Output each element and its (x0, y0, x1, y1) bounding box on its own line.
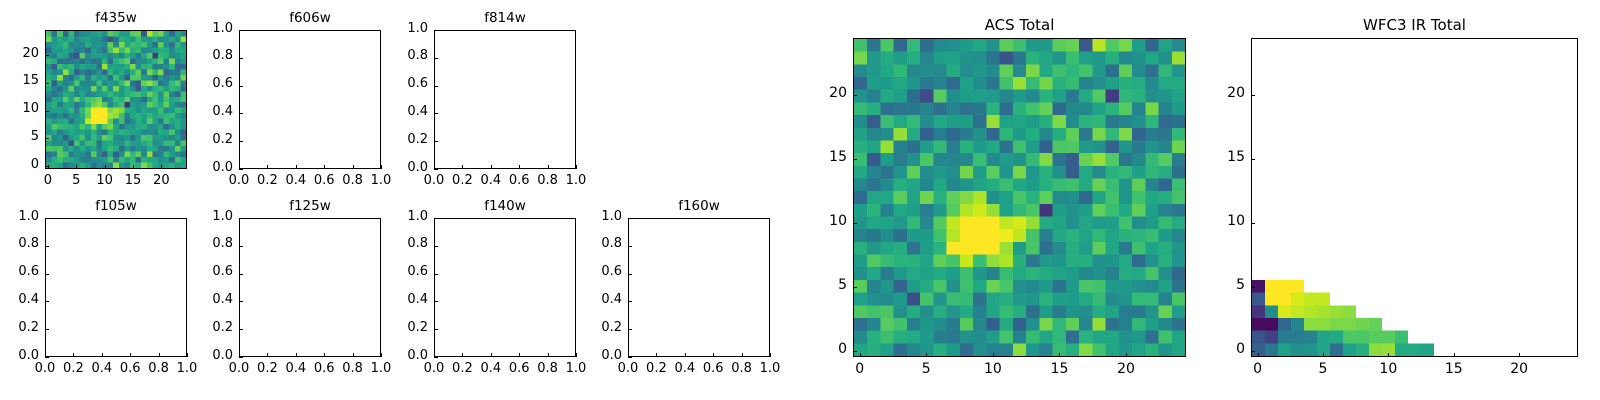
yticklabel-f105w-2: 0.4 (0, 292, 39, 307)
panel-title-f606w: f606w (239, 10, 381, 26)
xticklabel-f814w-1: 0.2 (432, 173, 492, 188)
xticklabel-f140w-1: 0.2 (432, 361, 492, 376)
ytick-f814w-0 (434, 169, 438, 170)
xticklabel-acs-total-4: 20 (1096, 361, 1156, 377)
xticklabel-f105w-2: 0.4 (72, 361, 132, 376)
yticklabel-f435w-2: 10 (0, 101, 39, 116)
xticklabel-f606w-1: 0.2 (237, 173, 297, 188)
xticklabel-acs-total-0: 0 (830, 361, 890, 377)
xticklabel-f606w-4: 0.8 (323, 173, 383, 188)
xticklabel-f125w-1: 0.2 (237, 361, 297, 376)
plot-area-f435w[interactable] (45, 30, 187, 169)
xticklabel-f105w-1: 0.2 (43, 361, 103, 376)
xtick-f140w-5 (576, 353, 577, 357)
xticklabel-f160w-2: 0.4 (655, 361, 715, 376)
xticklabel-wfc3-ir-total-2: 10 (1358, 361, 1418, 377)
ytick-f105w-0 (45, 357, 49, 358)
xticklabel-f606w-0: 0.0 (209, 173, 269, 188)
xticklabel-f140w-0: 0.0 (404, 361, 464, 376)
xticklabel-f125w-4: 0.8 (323, 361, 383, 376)
yticklabel-wfc3-ir-total-2: 10 (1185, 213, 1245, 229)
plot-area-f814w[interactable] (434, 30, 576, 169)
xtick-f105w-5 (187, 353, 188, 357)
heatmap-wfc3-ir-total (1252, 39, 1577, 356)
xticklabel-f814w-0: 0.0 (404, 173, 464, 188)
panel-title-f105w: f105w (45, 198, 187, 214)
xticklabel-f435w-3: 15 (103, 173, 163, 188)
panel-title-acs-total: ACS Total (853, 16, 1186, 34)
yticklabel-wfc3-ir-total-3: 15 (1185, 149, 1245, 165)
heatmap-acs-total (854, 39, 1185, 356)
xticklabel-f140w-3: 0.6 (489, 361, 549, 376)
xticklabel-f814w-5: 1.0 (546, 173, 606, 188)
panel-title-f140w: f140w (434, 198, 576, 214)
xticklabel-f160w-4: 0.8 (712, 361, 772, 376)
xticklabel-wfc3-ir-total-4: 20 (1489, 361, 1549, 377)
xtick-f606w-5 (381, 165, 382, 169)
xticklabel-f125w-3: 0.6 (294, 361, 354, 376)
xticklabel-f125w-5: 1.0 (351, 361, 411, 376)
xtick-f160w-5 (770, 353, 771, 357)
yticklabel-f435w-3: 15 (0, 73, 39, 88)
xticklabel-f140w-2: 0.4 (461, 361, 521, 376)
yticklabel-f105w-5: 1.0 (0, 209, 39, 224)
yticklabel-wfc3-ir-total-1: 5 (1185, 277, 1245, 293)
xticklabel-wfc3-ir-total-1: 5 (1293, 361, 1353, 377)
xticklabel-f160w-1: 0.2 (626, 361, 686, 376)
xticklabel-f435w-2: 10 (75, 173, 135, 188)
ytick-f140w-0 (434, 357, 438, 358)
xticklabel-wfc3-ir-total-0: 0 (1228, 361, 1288, 377)
xticklabel-acs-total-3: 15 (1029, 361, 1089, 377)
panel-title-wfc3-ir-total: WFC3 IR Total (1251, 16, 1578, 34)
yticklabel-wfc3-ir-total-0: 0 (1185, 341, 1245, 357)
xticklabel-f140w-4: 0.8 (518, 361, 578, 376)
xticklabel-f160w-5: 1.0 (740, 361, 800, 376)
xticklabel-f105w-0: 0.0 (15, 361, 75, 376)
yticklabel-f435w-1: 5 (0, 129, 39, 144)
plot-area-f140w[interactable] (434, 218, 576, 357)
xticklabel-f435w-1: 5 (46, 173, 106, 188)
plot-area-f160w[interactable] (628, 218, 770, 357)
yticklabel-f435w-0: 0 (0, 157, 39, 172)
ytick-f125w-0 (239, 357, 243, 358)
xticklabel-acs-total-2: 10 (963, 361, 1023, 377)
xticklabel-f606w-2: 0.4 (266, 173, 326, 188)
xticklabel-f160w-0: 0.0 (598, 361, 658, 376)
xticklabel-f814w-3: 0.6 (489, 173, 549, 188)
xticklabel-f435w-4: 20 (131, 173, 191, 188)
yticklabel-acs-total-3: 15 (787, 149, 847, 165)
panel-title-f814w: f814w (434, 10, 576, 26)
yticklabel-f105w-1: 0.2 (0, 320, 39, 335)
panel-title-f160w: f160w (628, 198, 770, 214)
xticklabel-f814w-2: 0.4 (461, 173, 521, 188)
yticklabel-acs-total-1: 5 (787, 277, 847, 293)
xticklabel-f606w-3: 0.6 (294, 173, 354, 188)
plot-area-wfc3-ir-total[interactable] (1251, 38, 1578, 357)
yticklabel-f105w-4: 0.8 (0, 236, 39, 251)
plot-area-acs-total[interactable] (853, 38, 1186, 357)
ytick-f606w-0 (239, 169, 243, 170)
xtick-f814w-5 (576, 165, 577, 169)
xticklabel-wfc3-ir-total-3: 15 (1424, 361, 1484, 377)
yticklabel-f105w-0: 0.0 (0, 348, 39, 363)
xticklabel-f160w-3: 0.6 (683, 361, 743, 376)
plot-area-f125w[interactable] (239, 218, 381, 357)
yticklabel-f105w-3: 0.6 (0, 264, 39, 279)
yticklabel-acs-total-4: 20 (787, 85, 847, 101)
xticklabel-f814w-4: 0.8 (518, 173, 578, 188)
plot-area-f105w[interactable] (45, 218, 187, 357)
xticklabel-f105w-3: 0.6 (100, 361, 160, 376)
xtick-f125w-5 (381, 353, 382, 357)
xticklabel-f105w-5: 1.0 (157, 361, 217, 376)
ytick-f160w-0 (628, 357, 632, 358)
xticklabel-f105w-4: 0.8 (129, 361, 189, 376)
heatmap-f435w (46, 31, 186, 168)
yticklabel-acs-total-0: 0 (787, 341, 847, 357)
xticklabel-acs-total-1: 5 (896, 361, 956, 377)
xticklabel-f140w-5: 1.0 (546, 361, 606, 376)
yticklabel-acs-total-2: 10 (787, 213, 847, 229)
panel-title-f125w: f125w (239, 198, 381, 214)
xticklabel-f435w-0: 0 (18, 173, 78, 188)
xticklabel-f125w-0: 0.0 (209, 361, 269, 376)
xticklabel-f125w-2: 0.4 (266, 361, 326, 376)
yticklabel-f435w-4: 20 (0, 46, 39, 61)
panel-title-f435w: f435w (45, 10, 187, 26)
yticklabel-wfc3-ir-total-4: 20 (1185, 85, 1245, 101)
xticklabel-f606w-5: 1.0 (351, 173, 411, 188)
plot-area-f606w[interactable] (239, 30, 381, 169)
